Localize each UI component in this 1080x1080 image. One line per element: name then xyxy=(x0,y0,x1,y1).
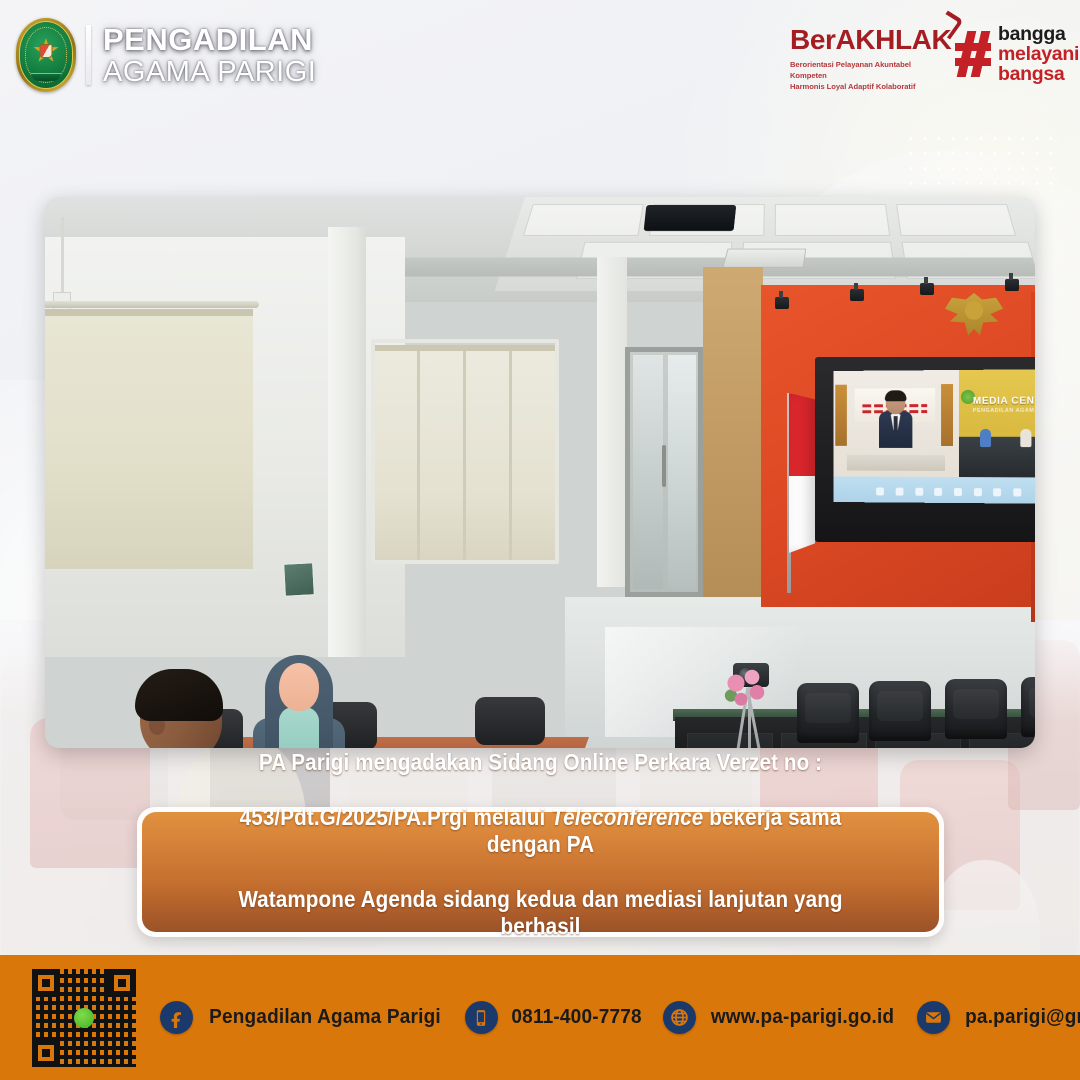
email-icon xyxy=(917,1001,950,1034)
projector-box xyxy=(644,205,737,231)
footer-bar: Pengadilan Agama Parigi 0811-400-7778 xyxy=(0,955,1080,1080)
judge-chair xyxy=(1021,677,1035,737)
brand-divider xyxy=(86,25,91,85)
facebook-icon xyxy=(160,1001,193,1034)
hashtag-icon xyxy=(955,31,991,77)
berakhlak-wordmark: BerAKHLAK xyxy=(790,26,945,54)
wall-poster xyxy=(283,562,315,597)
media-center-subtitle: PENGADILAN AGAMA PARIGI xyxy=(973,408,1035,414)
contact-email[interactable]: pa.parigi@gmail.com xyxy=(917,1001,1080,1034)
indonesian-flag-tall xyxy=(789,393,815,553)
globe-icon xyxy=(663,1001,696,1034)
judge-chair xyxy=(945,679,1007,739)
dot-grid-decoration xyxy=(904,131,1054,191)
brand-line-1: PENGADILAN xyxy=(103,24,316,55)
bangga-line-1: bangga xyxy=(998,24,1079,44)
main-photo: MEDIA CENTER PENGADILAN AGAMA PARIGI xyxy=(45,197,1035,748)
header-brand: PENGADILAN AGAMA PARIGI xyxy=(16,18,316,92)
caption-line-3: Watampone Agenda sidang kedua dan medias… xyxy=(238,886,842,939)
contact-list: Pengadilan Agama Parigi 0811-400-7778 xyxy=(160,955,1080,1080)
remote-participant xyxy=(879,392,912,448)
court-emblem-icon xyxy=(16,18,76,92)
bangga-melayani-bangsa-logo: bangga melayani bangsa xyxy=(955,24,1079,84)
email-label: pa.parigi@gmail.com xyxy=(965,1006,1080,1029)
led-screen: MEDIA CENTER PENGADILAN AGAMA PARIGI xyxy=(833,369,1035,504)
brand-line-2: AGAMA PARIGI xyxy=(103,58,316,87)
berakhlak-tagline-2: Harmonis Loyal Adaptif Kolaboratif xyxy=(790,81,945,92)
window-blind-left xyxy=(45,309,253,569)
caption-panel: PA Parigi mengadakan Sidang Online Perka… xyxy=(137,807,944,937)
poster-canvas: PENGADILAN AGAMA PARIGI BerAKHLAK Berori… xyxy=(0,0,1080,1080)
qr-code[interactable] xyxy=(30,967,138,1069)
berakhlak-tagline-1: Berorientasi Pelayanan Akuntabel Kompete… xyxy=(790,59,945,81)
contact-website[interactable]: www.pa-parigi.go.id xyxy=(663,1001,899,1034)
bangga-line-2: melayani xyxy=(998,44,1079,64)
caption-line-1: PA Parigi mengadakan Sidang Online Perka… xyxy=(259,749,822,775)
berakhlak-logo: BerAKHLAK Berorientasi Pelayanan Akuntab… xyxy=(790,26,945,92)
phone-label: 0811-400-7778 xyxy=(511,1006,641,1029)
caption-line-2a: 453/Pdt.G/2025/PA.Prgi melalui xyxy=(240,804,552,830)
caption-line-2-italic: Teleconference xyxy=(551,804,703,830)
bangga-line-3: bangsa xyxy=(998,64,1079,84)
website-label: www.pa-parigi.go.id xyxy=(711,1006,894,1029)
contact-facebook[interactable]: Pengadilan Agama Parigi xyxy=(160,1001,447,1034)
phone-icon xyxy=(465,1001,498,1034)
media-center-title: MEDIA CENTER xyxy=(973,395,1035,407)
contact-phone[interactable]: 0811-400-7778 xyxy=(465,1001,645,1034)
window-blind-right xyxy=(375,345,555,560)
flower-arrangement xyxy=(721,667,771,713)
facebook-label: Pengadilan Agama Parigi xyxy=(209,1006,441,1029)
qr-center-logo xyxy=(74,1008,94,1028)
